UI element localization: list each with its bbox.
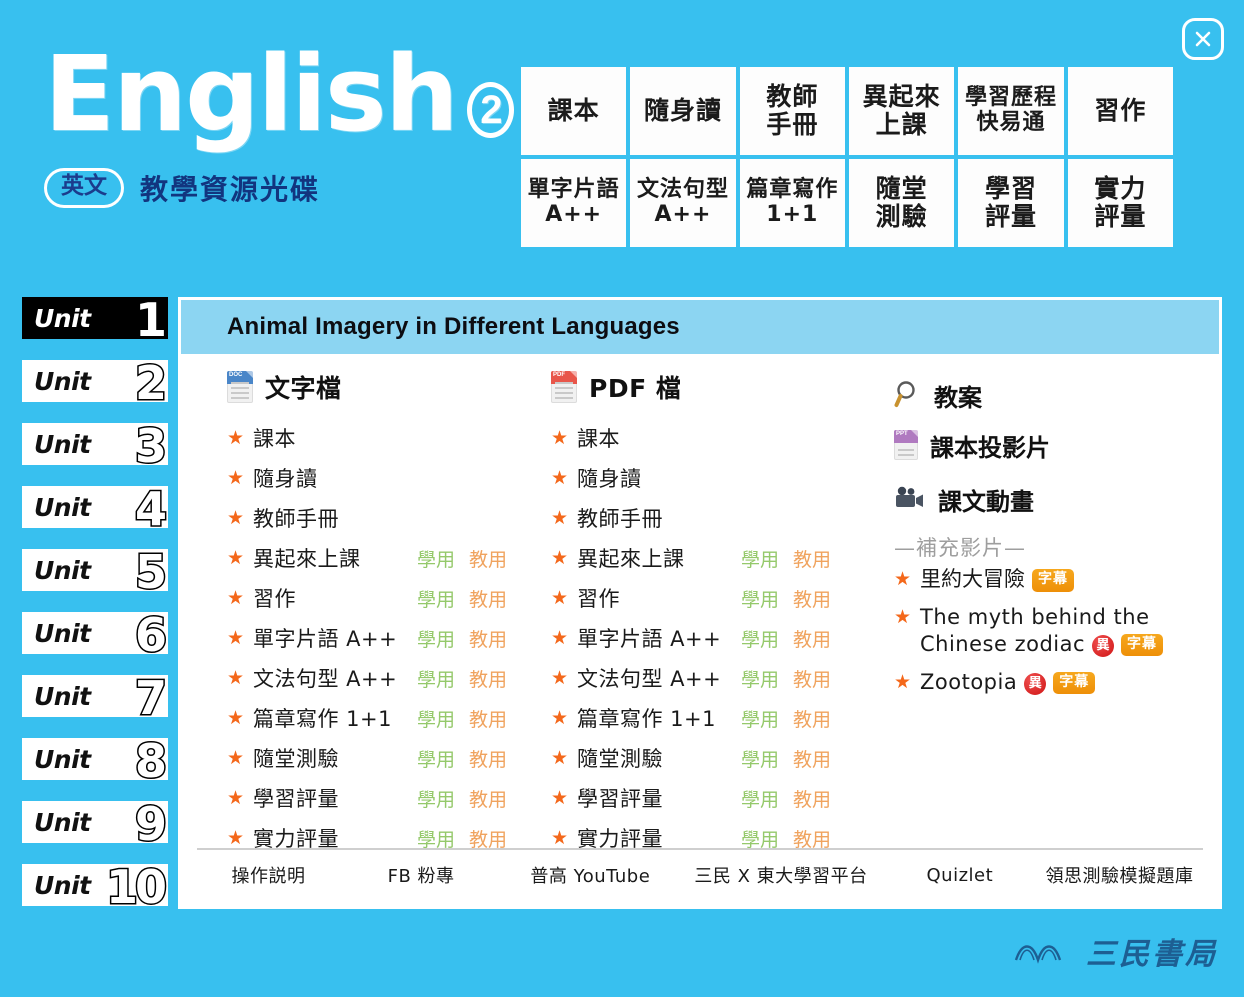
- file-row-label: 單字片語 A++: [253, 623, 413, 653]
- animation-item[interactable]: 課文動畫: [894, 474, 1206, 524]
- file-row[interactable]: ★異起來上課學用教用: [227, 538, 541, 578]
- student-version-link[interactable]: 學用: [417, 785, 455, 812]
- file-row[interactable]: ★教師手冊: [227, 498, 541, 538]
- unit-number-label: 9: [135, 801, 164, 847]
- star-icon: ★: [227, 507, 253, 529]
- word-file-list: ★課本★隨身讀★教師手冊★異起來上課學用教用★習作學用教用★單字片語 A++學用…: [227, 418, 541, 858]
- file-row-tags: 學用教用: [741, 585, 831, 612]
- unit-number-label: 1: [135, 297, 164, 343]
- teacher-version-link[interactable]: 教用: [793, 625, 831, 652]
- page-title: Animal Imagery in Different Languages: [227, 313, 680, 341]
- subtitle-badge[interactable]: 字幕: [1032, 569, 1074, 592]
- pdf-file-list: ★課本★隨身讀★教師手冊★異起來上課學用教用★習作學用教用★單字片語 A++學用…: [551, 418, 876, 858]
- unit-number-label: 7: [135, 675, 164, 721]
- column-pdf-files: PDF PDF 檔 ★課本★隨身讀★教師手冊★異起來上課學用教用★習作學用教用★…: [541, 370, 876, 848]
- file-row-tags: 學用教用: [741, 745, 831, 772]
- column-header-pdf: PDF PDF 檔: [551, 370, 876, 404]
- star-icon: ★: [551, 627, 577, 649]
- file-row[interactable]: ★學習評量學用教用: [227, 778, 541, 818]
- file-row[interactable]: ★學習評量學用教用: [551, 778, 876, 818]
- file-row-label: 文法句型 A++: [253, 663, 413, 693]
- star-icon: ★: [551, 747, 577, 769]
- sidebar-unit-5[interactable]: Unit5: [22, 549, 168, 591]
- publisher-logo: 三民書局: [1014, 929, 1218, 973]
- file-row[interactable]: ★課本: [227, 418, 541, 458]
- column-header-word: DOC 文字檔: [227, 370, 541, 404]
- close-window-button[interactable]: [1182, 18, 1224, 60]
- publisher-wave-icon: [1014, 938, 1076, 964]
- teacher-version-link[interactable]: 教用: [793, 545, 831, 572]
- file-row-label: 學習評量: [253, 783, 413, 813]
- star-icon: ★: [227, 627, 253, 649]
- unit-word-label: Unit: [34, 367, 91, 396]
- panel-body: DOC 文字檔 ★課本★隨身讀★教師手冊★異起來上課學用教用★習作學用教用★單字…: [181, 354, 1219, 848]
- unit-word-label: Unit: [34, 556, 91, 585]
- yi-badge[interactable]: 異: [1092, 635, 1114, 657]
- supplement-video-content: 里約大冒險字幕: [920, 566, 1074, 592]
- star-icon: ★: [227, 587, 253, 609]
- unit-word-label: Unit: [34, 871, 91, 900]
- file-row-tags: 學用教用: [417, 825, 507, 852]
- sidebar-unit-7[interactable]: Unit7: [22, 675, 168, 717]
- supplement-video-label: The myth behind the Chinese zodiac: [920, 605, 1150, 655]
- file-row-tags: 學用教用: [417, 545, 507, 572]
- unit-word-label: Unit: [34, 304, 91, 333]
- panel-header: Animal Imagery in Different Languages: [181, 300, 1219, 354]
- supplement-video-row[interactable]: ★Zootopia異字幕: [894, 669, 1206, 695]
- file-row-label: 學習評量: [577, 783, 737, 813]
- file-row-tags: 學用教用: [417, 585, 507, 612]
- teacher-version-link[interactable]: 教用: [469, 545, 507, 572]
- student-version-link[interactable]: 學用: [417, 585, 455, 612]
- teacher-version-link[interactable]: 教用: [793, 825, 831, 852]
- supplement-video-content: Zootopia異字幕: [920, 669, 1095, 695]
- teacher-version-link[interactable]: 教用: [793, 585, 831, 612]
- file-row-label: 文法句型 A++: [577, 663, 737, 693]
- topmenu-button-12[interactable]: 實力 評量: [1068, 159, 1173, 247]
- star-icon: ★: [227, 427, 253, 449]
- topmenu-button-5[interactable]: 學習歷程 快易通: [958, 67, 1063, 155]
- topmenu-button-1[interactable]: 課本: [521, 67, 626, 155]
- student-version-link[interactable]: 學用: [741, 785, 779, 812]
- file-row[interactable]: ★隨堂測驗學用教用: [551, 738, 876, 778]
- subtitle-badge[interactable]: 字幕: [1053, 672, 1095, 695]
- file-row[interactable]: ★篇章寫作 1+1學用教用: [551, 698, 876, 738]
- magnifier-icon: [894, 380, 922, 410]
- file-row-label: 實力評量: [577, 823, 737, 853]
- teacher-version-link[interactable]: 教用: [793, 785, 831, 812]
- unit-number-label: 2: [135, 360, 164, 406]
- subtitle-badge[interactable]: 字幕: [1121, 634, 1163, 657]
- student-version-link[interactable]: 學用: [741, 825, 779, 852]
- brand-subtitle-row: 英文 教學資源光碟: [44, 168, 514, 208]
- star-icon: ★: [551, 587, 577, 609]
- student-version-link[interactable]: 學用: [417, 705, 455, 732]
- star-icon: ★: [227, 827, 253, 849]
- file-row[interactable]: ★文法句型 A++學用教用: [227, 658, 541, 698]
- file-row-label: 習作: [577, 583, 737, 613]
- footer-link-2[interactable]: FB 粉專: [340, 862, 502, 888]
- sidebar-unit-2[interactable]: Unit2: [22, 360, 168, 402]
- file-row-tags: 學用教用: [741, 665, 831, 692]
- file-row-label: 篇章寫作 1+1: [253, 703, 413, 733]
- file-row[interactable]: ★文法句型 A++學用教用: [551, 658, 876, 698]
- star-icon: ★: [227, 707, 253, 729]
- star-icon: ★: [551, 707, 577, 729]
- file-row[interactable]: ★課本: [551, 418, 876, 458]
- publisher-name: 三民書局: [1086, 929, 1218, 973]
- file-row-label: 異起來上課: [253, 543, 413, 573]
- lesson-plan-label: 教案: [934, 378, 982, 413]
- file-row-label: 課本: [253, 423, 413, 453]
- file-row[interactable]: ★單字片語 A++學用教用: [551, 618, 876, 658]
- file-row-label: 課本: [577, 423, 737, 453]
- teacher-version-link[interactable]: 教用: [469, 665, 507, 692]
- file-row[interactable]: ★習作學用教用: [227, 578, 541, 618]
- file-row-tags: 學用教用: [417, 625, 507, 652]
- content-panel: Animal Imagery in Different Languages DO…: [178, 297, 1222, 909]
- sidebar-unit-10[interactable]: Unit10: [22, 864, 168, 906]
- supplement-video-list: ★里約大冒險字幕★The myth behind the Chinese zod…: [894, 566, 1206, 695]
- student-version-link[interactable]: 學用: [741, 585, 779, 612]
- star-icon: ★: [894, 606, 920, 630]
- file-row-label: 隨堂測驗: [253, 743, 413, 773]
- student-version-link[interactable]: 學用: [417, 625, 455, 652]
- ppt-doc-icon: PPT: [894, 430, 918, 460]
- student-version-link[interactable]: 學用: [417, 665, 455, 692]
- teacher-version-link[interactable]: 教用: [469, 745, 507, 772]
- topmenu-button-7[interactable]: 單字片語 A++: [521, 159, 626, 247]
- sidebar-unit-6[interactable]: Unit6: [22, 612, 168, 654]
- student-version-link[interactable]: 學用: [417, 745, 455, 772]
- teacher-version-link[interactable]: 教用: [469, 585, 507, 612]
- teacher-version-link[interactable]: 教用: [469, 785, 507, 812]
- file-row-label: 教師手冊: [253, 503, 413, 533]
- file-row-label: 教師手冊: [577, 503, 737, 533]
- file-row[interactable]: ★實力評量學用教用: [551, 818, 876, 858]
- file-row-tags: 學用教用: [417, 705, 507, 732]
- topmenu-button-8[interactable]: 文法句型 A++: [630, 159, 735, 247]
- column-header-label: PDF 檔: [589, 369, 681, 405]
- file-row-label: 習作: [253, 583, 413, 613]
- student-version-link[interactable]: 學用: [741, 665, 779, 692]
- footer-link-5[interactable]: Quizlet: [884, 865, 1037, 886]
- yi-badge[interactable]: 異: [1024, 673, 1046, 695]
- student-version-link[interactable]: 學用: [417, 825, 455, 852]
- column-header-label: 文字檔: [265, 369, 342, 405]
- app-logo-title: English 2: [44, 42, 514, 146]
- unit-number-label: 6: [135, 612, 164, 658]
- student-version-link[interactable]: 學用: [741, 745, 779, 772]
- sidebar-unit-1[interactable]: Unit1: [22, 297, 168, 339]
- slides-item[interactable]: PPT 課本投影片: [894, 420, 1206, 470]
- star-icon: ★: [551, 787, 577, 809]
- file-row[interactable]: ★實力評量學用教用: [227, 818, 541, 858]
- file-row-tags: 學用教用: [741, 545, 831, 572]
- product-subtitle: 教學資源光碟: [140, 168, 320, 208]
- file-row-tags: 學用教用: [741, 705, 831, 732]
- unit-word-label: Unit: [34, 430, 91, 459]
- footer-link-6[interactable]: 領思測驗模擬題庫: [1036, 862, 1203, 888]
- supplement-video-row[interactable]: ★The myth behind the Chinese zodiac異字幕: [894, 604, 1206, 657]
- unit-word-label: Unit: [34, 682, 91, 711]
- brand-block: English 2 英文 教學資源光碟: [44, 42, 514, 208]
- logo-text: English: [44, 42, 457, 146]
- unit-sidebar: Unit1Unit2Unit3Unit4Unit5Unit6Unit7Unit8…: [22, 297, 168, 927]
- student-version-link[interactable]: 學用: [741, 705, 779, 732]
- supplement-video-row[interactable]: ★里約大冒險字幕: [894, 566, 1206, 592]
- student-version-link[interactable]: 學用: [741, 545, 779, 572]
- footer-link-1[interactable]: 操作説明: [197, 862, 340, 888]
- logo-volume-number: 2: [467, 82, 514, 138]
- subject-badge: 英文: [44, 168, 124, 207]
- file-row-label: 隨身讀: [253, 463, 413, 493]
- star-icon: ★: [894, 671, 920, 695]
- supplement-video-content: The myth behind the Chinese zodiac異字幕: [920, 604, 1170, 657]
- student-version-link[interactable]: 學用: [417, 545, 455, 572]
- unit-word-label: Unit: [34, 808, 91, 837]
- topmenu-button-2[interactable]: 隨身讀: [630, 67, 735, 155]
- star-icon: ★: [227, 747, 253, 769]
- sidebar-unit-3[interactable]: Unit3: [22, 423, 168, 465]
- topmenu-button-11[interactable]: 學習 評量: [958, 159, 1063, 247]
- file-row-label: 隨堂測驗: [577, 743, 737, 773]
- star-icon: ★: [227, 787, 253, 809]
- supplement-video-label: 里約大冒險: [920, 567, 1025, 591]
- file-row[interactable]: ★隨身讀: [227, 458, 541, 498]
- file-row-label: 隨身讀: [577, 463, 737, 493]
- file-row-tags: 學用教用: [741, 785, 831, 812]
- column-word-files: DOC 文字檔 ★課本★隨身讀★教師手冊★異起來上課學用教用★習作學用教用★單字…: [181, 370, 541, 848]
- unit-number-label: 3: [135, 423, 164, 469]
- pdf-doc-icon: PDF: [551, 371, 577, 403]
- star-icon: ★: [551, 467, 577, 489]
- topmenu-button-3[interactable]: 教師 手冊: [740, 67, 845, 155]
- teacher-version-link[interactable]: 教用: [793, 705, 831, 732]
- star-icon: ★: [551, 667, 577, 689]
- lesson-plan-item[interactable]: 教案: [894, 370, 1206, 420]
- slides-label: 課本投影片: [930, 428, 1050, 463]
- video-camera-icon: [894, 486, 926, 512]
- column-media: 教案 PPT 課本投影片 課文動畫: [876, 370, 1206, 848]
- top-menu-grid: 課本隨身讀教師 手冊異起來 上課學習歷程 快易通習作單字片語 A++文法句型 A…: [521, 67, 1173, 247]
- teacher-version-link[interactable]: 教用: [793, 745, 831, 772]
- topmenu-button-9[interactable]: 篇章寫作 1+1: [740, 159, 845, 247]
- teacher-version-link[interactable]: 教用: [469, 705, 507, 732]
- supplement-divider: —補充影片—: [894, 532, 1206, 562]
- file-row-label: 實力評量: [253, 823, 413, 853]
- file-row[interactable]: ★教師手冊: [551, 498, 876, 538]
- file-row-tags: 學用教用: [741, 825, 831, 852]
- topmenu-button-6[interactable]: 習作: [1068, 67, 1173, 155]
- unit-number-label: 8: [135, 738, 164, 784]
- supplement-video-label: Zootopia: [920, 670, 1017, 694]
- star-icon: ★: [551, 547, 577, 569]
- topmenu-button-10[interactable]: 隨堂 測驗: [849, 159, 954, 247]
- star-icon: ★: [227, 667, 253, 689]
- star-icon: ★: [227, 467, 253, 489]
- topmenu-button-4[interactable]: 異起來 上課: [849, 67, 954, 155]
- star-icon: ★: [894, 568, 920, 592]
- unit-word-label: Unit: [34, 493, 91, 522]
- file-row[interactable]: ★單字片語 A++學用教用: [227, 618, 541, 658]
- unit-word-label: Unit: [34, 619, 91, 648]
- teacher-version-link[interactable]: 教用: [469, 625, 507, 652]
- unit-word-label: Unit: [34, 745, 91, 774]
- student-version-link[interactable]: 學用: [741, 625, 779, 652]
- file-row[interactable]: ★隨堂測驗學用教用: [227, 738, 541, 778]
- file-row-tags: 學用教用: [417, 785, 507, 812]
- unit-number-label: 10: [106, 864, 164, 910]
- footer-link-4[interactable]: 三民 X 東大學習平台: [679, 862, 884, 888]
- sidebar-unit-9[interactable]: Unit9: [22, 801, 168, 843]
- file-row[interactable]: ★隨身讀: [551, 458, 876, 498]
- teacher-version-link[interactable]: 教用: [469, 825, 507, 852]
- file-row[interactable]: ★習作學用教用: [551, 578, 876, 618]
- sidebar-unit-8[interactable]: Unit8: [22, 738, 168, 780]
- animation-label: 課文動畫: [938, 482, 1034, 517]
- star-icon: ★: [551, 427, 577, 449]
- word-doc-icon: DOC: [227, 371, 253, 403]
- unit-number-label: 5: [135, 549, 164, 595]
- teacher-version-link[interactable]: 教用: [793, 665, 831, 692]
- file-row-tags: 學用教用: [741, 625, 831, 652]
- star-icon: ★: [227, 547, 253, 569]
- file-row-label: 異起來上課: [577, 543, 737, 573]
- file-row-label: 單字片語 A++: [577, 623, 737, 653]
- file-row[interactable]: ★異起來上課學用教用: [551, 538, 876, 578]
- unit-number-label: 4: [135, 486, 164, 532]
- file-row-tags: 學用教用: [417, 665, 507, 692]
- footer-link-3[interactable]: 普高 YouTube: [502, 862, 678, 888]
- file-row-label: 篇章寫作 1+1: [577, 703, 737, 733]
- close-icon: [1193, 29, 1213, 49]
- file-row[interactable]: ★篇章寫作 1+1學用教用: [227, 698, 541, 738]
- sidebar-unit-4[interactable]: Unit4: [22, 486, 168, 528]
- file-row-tags: 學用教用: [417, 745, 507, 772]
- star-icon: ★: [551, 507, 577, 529]
- star-icon: ★: [551, 827, 577, 849]
